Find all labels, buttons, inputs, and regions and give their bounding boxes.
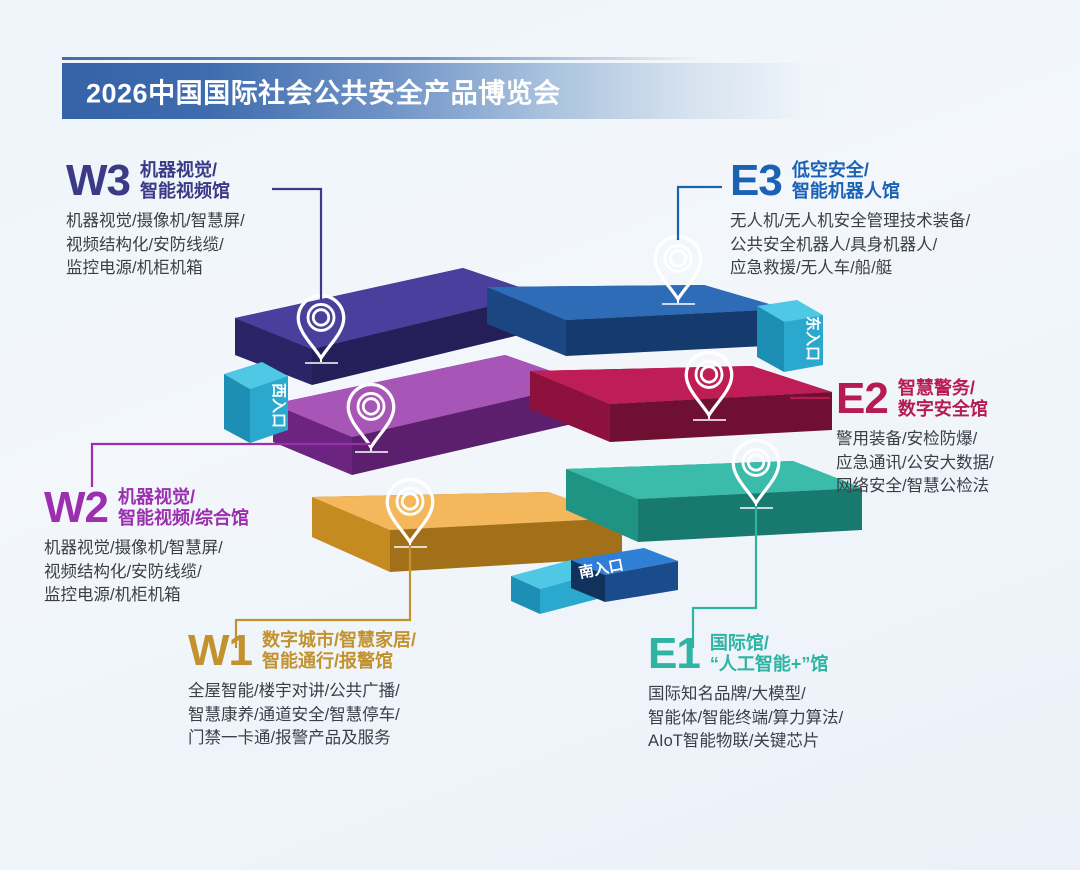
entrance-label-south: 南入口: [577, 556, 625, 582]
hall-name-e2: 智慧警务/ 数字安全馆: [898, 378, 988, 420]
hall-block-e3[interactable]: [487, 285, 786, 356]
hall-desc-e3: 无人机/无人机安全管理技术装备/ 公共安全机器人/具身机器人/ 应急救援/无人车…: [730, 210, 1060, 280]
hall-name-w2: 机器视觉/ 智能视频/综合馆: [118, 487, 249, 529]
hall-block-e2[interactable]: [530, 366, 832, 442]
pin-marker-e2[interactable]: [686, 353, 732, 421]
title-banner: 2026中国国际社会公共安全产品博览会: [62, 57, 872, 119]
hall-block-e1[interactable]: [566, 461, 862, 542]
pin-marker-e1[interactable]: [733, 441, 779, 509]
hall-label-e1[interactable]: E1 国际馆/ “人工智能+”馆 国际知名品牌/大模型/ 智能体/智能终端/算力…: [648, 633, 948, 754]
hall-code-w3: W3: [66, 160, 130, 202]
hall-block-w2[interactable]: [273, 355, 585, 475]
pin-marker-w3[interactable]: [298, 296, 344, 364]
banner-gradient-bar: 2026中国国际社会公共安全产品博览会: [62, 63, 872, 119]
hall-code-w2: W2: [44, 487, 108, 529]
hall-label-w3[interactable]: W3 机器视觉/ 智能视频馆 机器视觉/摄像机/智慧屏/ 视频结构化/安防线缆/…: [66, 160, 366, 281]
hall-label-e1-head: E1 国际馆/ “人工智能+”馆: [648, 633, 948, 675]
hall-label-e2[interactable]: E2 智慧警务/ 数字安全馆 警用装备/安检防爆/ 应急通讯/公安大数据/ 网络…: [836, 378, 1080, 499]
hall-desc-e2: 警用装备/安检防爆/ 应急通讯/公安大数据/ 网络安全/智慧公检法: [836, 428, 1080, 498]
hall-name-w1: 数字城市/智慧家居/ 智能通行/报警馆: [262, 630, 416, 672]
connector-e1: [693, 506, 756, 648]
banner-top-rule: [62, 57, 704, 60]
pin-marker-e3[interactable]: [655, 237, 701, 305]
hall-code-e3: E3: [730, 160, 782, 202]
hall-label-w2[interactable]: W2 机器视觉/ 智能视频/综合馆 机器视觉/摄像机/智慧屏/ 视频结构化/安防…: [44, 487, 344, 608]
hall-code-e2: E2: [836, 378, 888, 420]
hall-code-e1: E1: [648, 633, 700, 675]
hall-block-w1[interactable]: [312, 492, 622, 572]
hall-code-w1: W1: [188, 630, 252, 672]
entrance-label-east: 东入口: [804, 316, 822, 361]
entrance-label-west: 西入口: [270, 383, 287, 428]
pin-marker-w2[interactable]: [348, 385, 394, 453]
entrance-block-east[interactable]: 东入口: [757, 300, 823, 372]
hall-name-w3: 机器视觉/ 智能视频馆: [140, 160, 230, 202]
hall-desc-w2: 机器视觉/摄像机/智慧屏/ 视频结构化/安防线缆/ 监控电源/机柜机箱: [44, 537, 344, 607]
hall-label-w1[interactable]: W1 数字城市/智慧家居/ 智能通行/报警馆 全屋智能/楼宇对讲/公共广播/ 智…: [188, 630, 518, 751]
hall-name-e1: 国际馆/ “人工智能+”馆: [710, 633, 829, 675]
hall-label-e3[interactable]: E3 低空安全/ 智能机器人馆 无人机/无人机安全管理技术装备/ 公共安全机器人…: [730, 160, 1060, 281]
hall-desc-e1: 国际知名品牌/大模型/ 智能体/智能终端/算力算法/ AIoT智能物联/关键芯片: [648, 683, 948, 753]
hall-label-w2-head: W2 机器视觉/ 智能视频/综合馆: [44, 487, 344, 529]
page-title: 2026中国国际社会公共安全产品博览会: [86, 72, 561, 111]
hall-name-e3: 低空安全/ 智能机器人馆: [792, 160, 900, 202]
hall-label-w3-head: W3 机器视觉/ 智能视频馆: [66, 160, 366, 202]
hall-desc-w3: 机器视觉/摄像机/智慧屏/ 视频结构化/安防线缆/ 监控电源/机柜机箱: [66, 210, 366, 280]
entrance-block-south[interactable]: 南入口: [511, 548, 678, 614]
entrance-block-west[interactable]: 西入口: [224, 362, 288, 443]
connector-w2: [92, 444, 371, 487]
connector-e3: [678, 187, 722, 240]
hall-desc-w1: 全屋智能/楼宇对讲/公共广播/ 智慧康养/通道安全/智慧停车/ 门禁一卡通/报警…: [188, 680, 518, 750]
hall-label-e2-head: E2 智慧警务/ 数字安全馆: [836, 378, 1080, 420]
hall-label-e3-head: E3 低空安全/ 智能机器人馆: [730, 160, 1060, 202]
hall-block-w3[interactable]: [235, 268, 540, 385]
hall-label-w1-head: W1 数字城市/智慧家居/ 智能通行/报警馆: [188, 630, 518, 672]
pin-marker-w1[interactable]: [387, 480, 433, 548]
